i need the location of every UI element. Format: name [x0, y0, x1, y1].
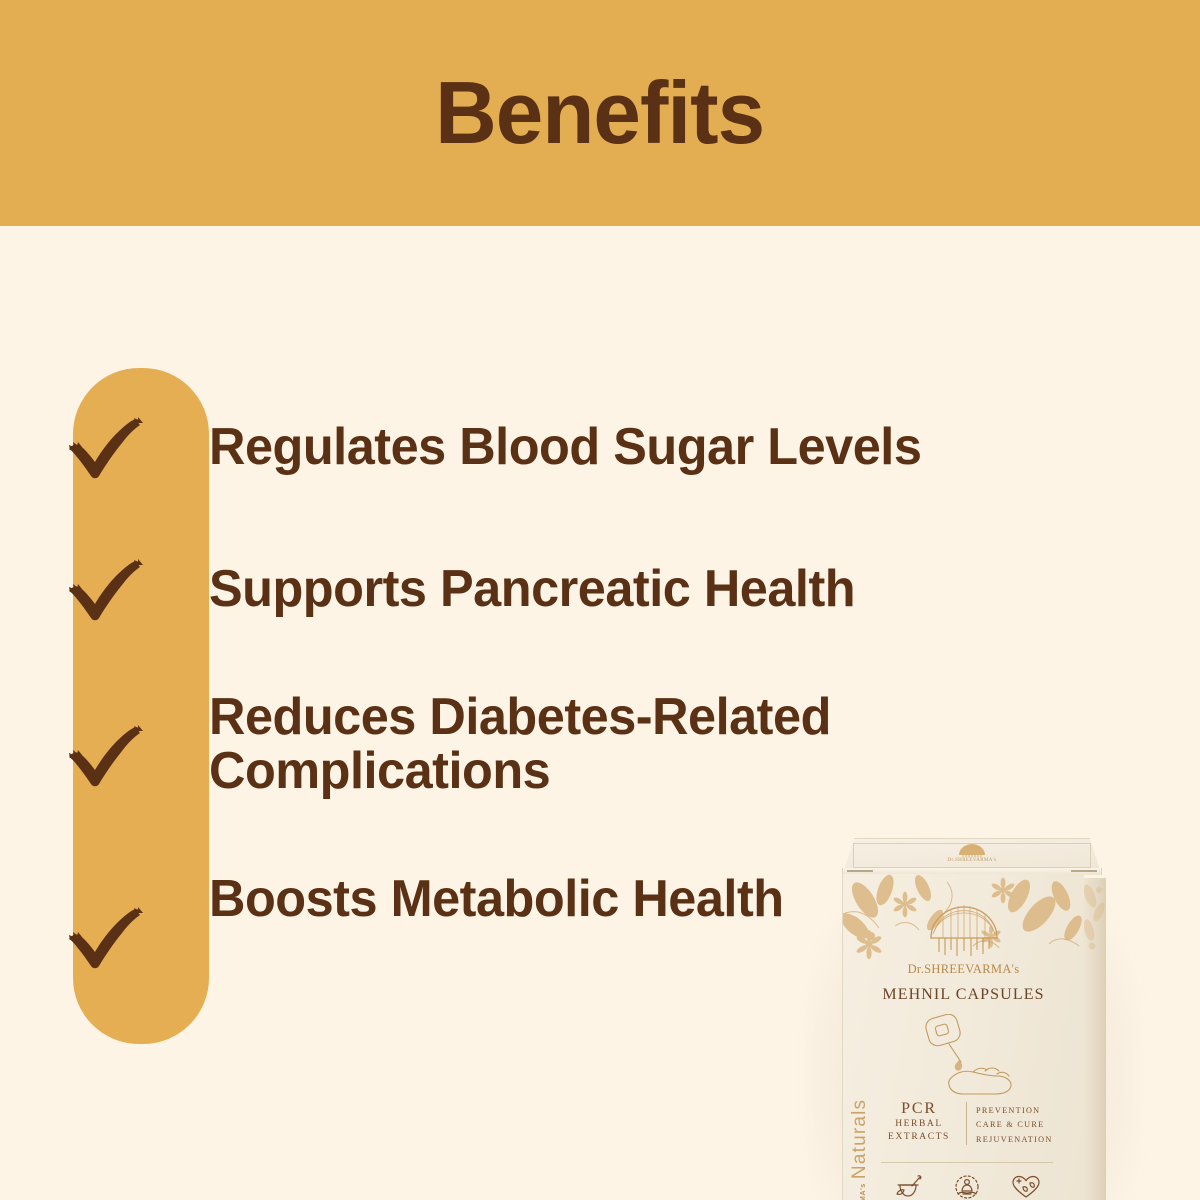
header-banner: Benefits — [0, 0, 1200, 226]
pcr-extract-label: PCR HERBAL EXTRACTS — [881, 1100, 957, 1147]
promise-line-2: CARE & CURE — [976, 1118, 1053, 1132]
flap-notch-left — [847, 870, 873, 872]
pcr-separator — [881, 1162, 1053, 1163]
dome-logo-icon — [843, 900, 1084, 960]
vertical-brand-small: VARMA's — [860, 1183, 867, 1200]
discipline-ayurveda: AYURVEDA — [940, 1174, 994, 1200]
discipline-siddha: SIDDHA — [881, 1174, 935, 1200]
dome-logo-icon — [955, 843, 989, 857]
check-mark-icon — [0, 416, 209, 482]
page-title: Benefits — [435, 69, 764, 157]
disciplines-row: SIDDHA AYURVEDA — [881, 1174, 1053, 1200]
benefit-label: Regulates Blood Sugar Levels — [209, 416, 1043, 474]
lid-brand-text: Dr.SHREEVARMA's — [948, 858, 997, 863]
heart-leaf-icon — [1011, 1174, 1041, 1200]
pcr-line-2: EXTRACTS — [881, 1131, 957, 1144]
meditating-figure-icon — [952, 1174, 982, 1200]
product-box-lid: Dr.SHREEVARMA's — [844, 838, 1100, 870]
pcr-divider — [966, 1102, 967, 1145]
benefit-label: Reduces Diabetes-Related Complications — [209, 686, 927, 798]
benefits-infographic: Benefits Regulates Blood Sugar Levels — [0, 0, 1200, 1200]
benefit-item: Supports Pancreatic Health — [0, 558, 1100, 624]
pcr-title: PCR — [881, 1100, 957, 1118]
benefit-label: Supports Pancreatic Health — [209, 558, 1043, 616]
promise-list: PREVENTION CARE & CURE REJUVENATION — [976, 1100, 1053, 1147]
vertical-brand-text: VARMA's Naturals — [849, 1088, 871, 1200]
discipline-naturopathy: NATUROPATHY — [999, 1174, 1053, 1200]
product-box-side-panel — [1084, 878, 1106, 1200]
promise-line-1: PREVENTION — [976, 1104, 1053, 1118]
lid-logo: Dr.SHREEVARMA's — [845, 843, 1099, 863]
promise-line-3: REJUVENATION — [976, 1133, 1053, 1147]
vertical-brand-large: Naturals — [849, 1099, 871, 1179]
product-name: MEHNIL CAPSULES — [843, 986, 1084, 1004]
brand-name: Dr.SHREEVARMA's — [843, 962, 1084, 977]
check-mark-icon — [0, 686, 209, 790]
botanical-pattern-side — [1084, 878, 1106, 978]
product-box-front: Dr.SHREEVARMA's MEHNIL CAPSULES — [842, 874, 1084, 1200]
check-mark-icon — [0, 558, 209, 624]
pcr-line-1: HERBAL — [881, 1118, 957, 1131]
mortar-pestle-icon — [893, 1174, 923, 1200]
check-mark-icon — [0, 868, 209, 972]
benefit-item: Regulates Blood Sugar Levels — [0, 416, 1100, 482]
flap-notch-right — [1071, 870, 1097, 872]
product-box: Dr.SHREEVARMA's — [826, 838, 1126, 1200]
dropper-in-hand-icon — [905, 1014, 1023, 1103]
pcr-block: PCR HERBAL EXTRACTS PREVENTION CARE & CU… — [881, 1100, 1053, 1147]
benefit-item: Reduces Diabetes-Related Complications — [0, 686, 1100, 798]
